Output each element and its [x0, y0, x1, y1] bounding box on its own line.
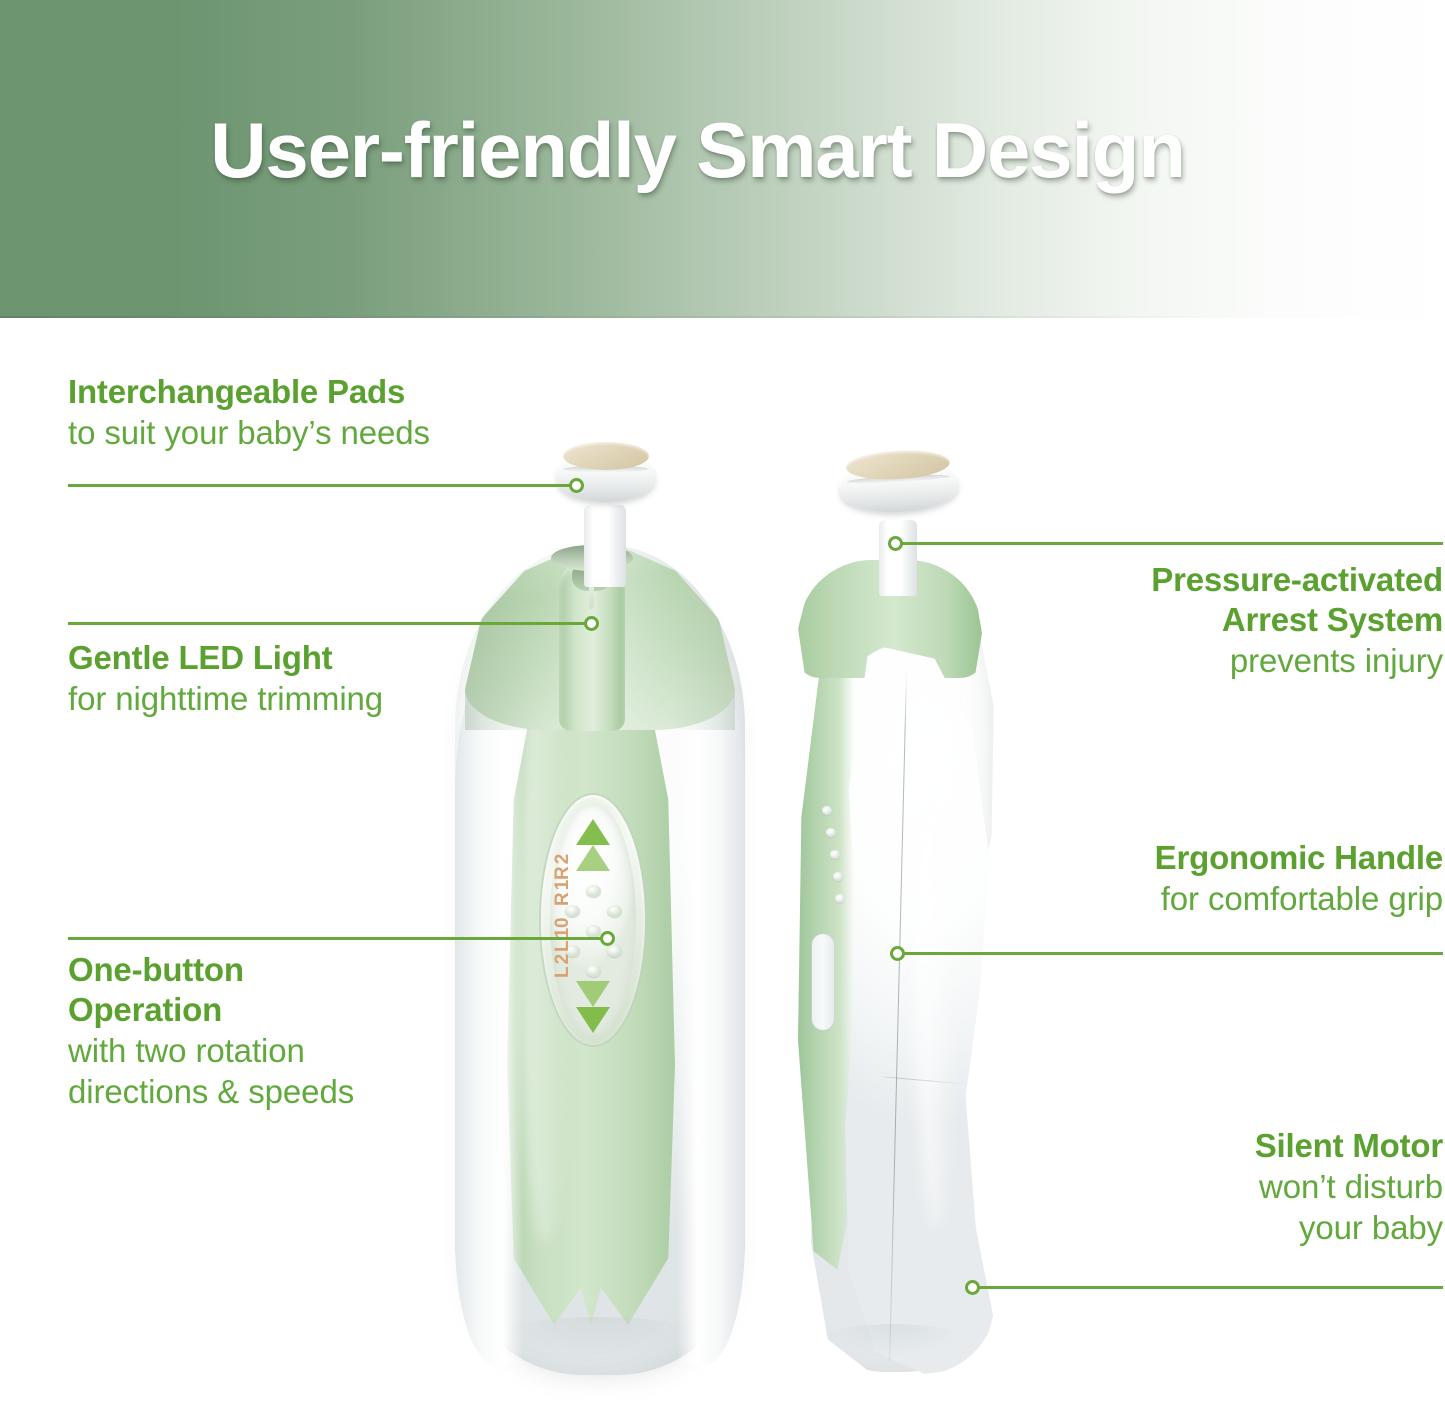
callout-title: Gentle LED Light [68, 638, 588, 678]
callout-subtitle: to suit your baby’s needs [68, 412, 588, 453]
leader-line-ergonomic-handle [897, 952, 1443, 955]
side-button-edge[interactable] [812, 934, 834, 1030]
arrow-up-outer-icon [576, 819, 610, 845]
front-pad-stem [584, 505, 626, 587]
side-sanding-pad [838, 449, 960, 527]
callout-subtitle: for nighttime trimming [68, 678, 588, 719]
callout-silent-motor: Silent Motor won’t disturb your baby [923, 1126, 1443, 1248]
callout-pressure-activated-arrest-system: Pressure-activated Arrest System prevent… [923, 560, 1443, 681]
leader-line-one-button-operation [68, 937, 608, 940]
scale-label-r2: R2 [552, 852, 573, 880]
callout-subtitle: prevents injury [923, 640, 1443, 681]
callout-gentle-led-light: Gentle LED Light for nighttime trimming [68, 638, 588, 719]
callout-title: One-button Operation [68, 950, 588, 1030]
scale-label-r1: R1 [552, 878, 573, 906]
page-title: User-friendly Smart Design [0, 102, 1395, 198]
leader-line-gentle-led-light [68, 622, 592, 625]
front-sanding-pad [557, 443, 655, 513]
arrow-up-inner-icon [576, 845, 610, 871]
callout-interchangeable-pads: Interchangeable Pads to suit your baby’s… [68, 372, 588, 453]
grip-dot [826, 828, 836, 837]
callout-title: Silent Motor [923, 1126, 1443, 1166]
callout-subtitle: won’t disturb your baby [923, 1166, 1443, 1248]
grip-nub [607, 905, 622, 917]
grip-dot [830, 850, 840, 859]
callout-ergonomic-handle: Ergonomic Handle for comfortable grip [923, 838, 1443, 919]
grip-dot [833, 872, 843, 881]
leader-knob-icon [569, 478, 584, 493]
infographic-canvas: User-friendly Smart Design [0, 0, 1445, 1411]
header-banner: User-friendly Smart Design [0, 0, 1445, 318]
grip-nub [586, 925, 601, 937]
leader-line-interchangeable-pads [68, 484, 577, 487]
device-right-rail [677, 665, 745, 1365]
callout-title: Ergonomic Handle [923, 838, 1443, 878]
callout-title: Pressure-activated Arrest System [923, 560, 1443, 640]
callout-title: Interchangeable Pads [68, 372, 588, 412]
grip-nub [586, 885, 601, 897]
callout-one-button-operation: One-button Operation with two rotation d… [68, 950, 588, 1112]
leader-knob-icon [890, 946, 905, 961]
leader-knob-icon [600, 931, 615, 946]
grip-dot [835, 894, 845, 903]
side-pad-stem [879, 520, 917, 596]
callout-subtitle: for comfortable grip [923, 878, 1443, 919]
device-base-shading [481, 1317, 719, 1371]
leader-line-silent-motor [972, 1286, 1443, 1289]
leader-knob-icon [965, 1280, 980, 1295]
callout-subtitle: with two rotation directions & speeds [68, 1030, 588, 1112]
grip-nub [607, 945, 622, 957]
leader-line-pressure-activated [895, 542, 1443, 545]
side-base-shading [808, 1324, 978, 1370]
leader-knob-icon [584, 616, 599, 631]
grip-dot [822, 806, 832, 815]
product-side-view [790, 560, 1000, 1372]
grip-nub [586, 965, 601, 977]
leader-knob-icon [888, 536, 903, 551]
